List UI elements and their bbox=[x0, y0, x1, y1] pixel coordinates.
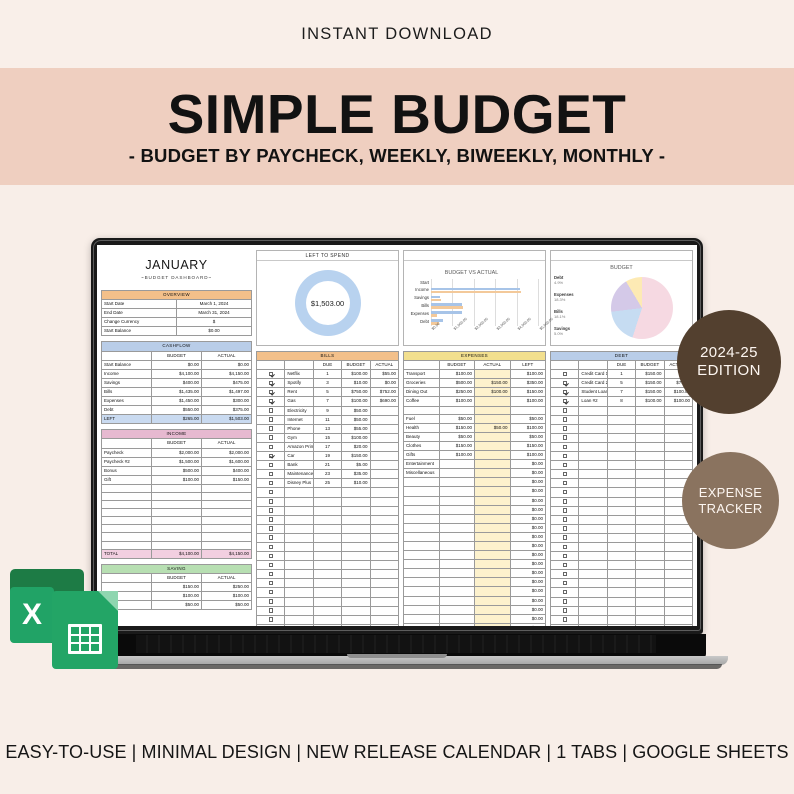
checkbox-icon[interactable] bbox=[563, 472, 567, 476]
checkbox-icon[interactable] bbox=[269, 554, 273, 558]
checkbox-icon[interactable] bbox=[269, 572, 273, 576]
row-checkbox[interactable] bbox=[551, 579, 579, 588]
row-checkbox[interactable] bbox=[257, 570, 285, 579]
donut-ring: $1,503.00 bbox=[295, 270, 361, 336]
checkbox-icon[interactable] bbox=[269, 599, 273, 603]
checkbox-icon[interactable] bbox=[563, 490, 567, 494]
cell-due bbox=[313, 533, 341, 542]
checkbox-icon[interactable] bbox=[563, 435, 567, 439]
cell-budget: $150.00 bbox=[636, 379, 664, 388]
cell-actual: $2,000.00 bbox=[202, 448, 252, 457]
table-row bbox=[551, 570, 693, 579]
cell-budget: $100.00 bbox=[439, 370, 475, 379]
cell-label bbox=[579, 506, 607, 515]
cell-label: LEFT bbox=[102, 415, 152, 424]
cell-budget bbox=[342, 615, 370, 624]
checkbox-icon[interactable] bbox=[269, 581, 273, 585]
bar-chart-title: BUDGET VS ACTUAL bbox=[404, 270, 539, 276]
bills-header-row: DUE BUDGET ACTUAL bbox=[257, 361, 399, 370]
row-checkbox[interactable] bbox=[551, 588, 579, 597]
row-checkbox[interactable] bbox=[551, 461, 579, 470]
cell-label bbox=[102, 509, 152, 517]
table-row bbox=[551, 506, 693, 515]
cell-budget bbox=[152, 533, 202, 541]
checkbox-icon[interactable] bbox=[269, 563, 273, 567]
pie-chart-title: BUDGET bbox=[551, 261, 692, 271]
cell-label bbox=[285, 624, 313, 626]
laptop-trackpad-notch bbox=[347, 654, 447, 658]
cell-actual bbox=[475, 587, 511, 596]
cell-label bbox=[285, 606, 313, 615]
cell-actual bbox=[475, 596, 511, 605]
checkbox-icon[interactable] bbox=[563, 372, 567, 376]
row-checkbox[interactable] bbox=[551, 488, 579, 497]
row-checkbox[interactable] bbox=[257, 415, 285, 424]
checkbox-icon[interactable] bbox=[269, 408, 273, 412]
checkbox-icon[interactable] bbox=[563, 381, 567, 385]
row-checkbox[interactable] bbox=[551, 397, 579, 406]
checkbox-icon[interactable] bbox=[563, 408, 567, 412]
row-checkbox[interactable] bbox=[551, 388, 579, 397]
cell-left: $100.00 bbox=[510, 397, 546, 406]
row-checkbox[interactable] bbox=[551, 624, 579, 626]
row-checkbox[interactable] bbox=[257, 597, 285, 606]
checkbox-icon[interactable] bbox=[269, 590, 273, 594]
cell-budget: $250.00 bbox=[439, 388, 475, 397]
bills-col-actual: ACTUAL bbox=[370, 361, 398, 370]
row-checkbox[interactable] bbox=[257, 424, 285, 433]
row-checkbox[interactable] bbox=[257, 442, 285, 451]
checkbox-icon[interactable] bbox=[269, 617, 273, 621]
cell-budget bbox=[439, 569, 475, 578]
saving-col-budget: BUDGET bbox=[152, 573, 202, 582]
cell-left: $50.00 bbox=[510, 414, 546, 423]
cell-budget: $100.00 bbox=[152, 475, 202, 484]
table-row: Rent5$750.00$752.00 bbox=[257, 388, 399, 397]
instant-download-text: INSTANT DOWNLOAD bbox=[301, 25, 493, 44]
cell-value: March 31, 2024 bbox=[177, 309, 252, 318]
row-checkbox[interactable] bbox=[551, 442, 579, 451]
row-checkbox[interactable] bbox=[257, 624, 285, 626]
cell-budget bbox=[636, 515, 664, 524]
row-checkbox[interactable] bbox=[551, 524, 579, 533]
checkbox-icon[interactable] bbox=[563, 535, 567, 539]
cell-budget bbox=[636, 615, 664, 624]
row-checkbox[interactable] bbox=[551, 533, 579, 542]
checkbox-icon[interactable] bbox=[563, 445, 567, 449]
table-row bbox=[551, 406, 693, 415]
cell-left: $0.00 bbox=[510, 523, 546, 532]
checkbox-icon[interactable] bbox=[563, 572, 567, 576]
saving-col-actual: ACTUAL bbox=[202, 573, 252, 582]
checkbox-icon[interactable] bbox=[269, 381, 273, 385]
checkbox-icon[interactable] bbox=[269, 545, 273, 549]
row-checkbox[interactable] bbox=[257, 588, 285, 597]
left-to-spend-panel: LEFT TO SPEND $1,503.00 bbox=[256, 250, 399, 346]
cell-due bbox=[607, 461, 635, 470]
checkbox-icon[interactable] bbox=[563, 390, 567, 394]
cell-budget: $265.00 bbox=[152, 415, 202, 424]
checkbox-icon[interactable] bbox=[269, 526, 273, 530]
table-row: Amazon Prime17$20.00 bbox=[257, 442, 399, 451]
cell-label bbox=[404, 514, 440, 523]
row-checkbox[interactable] bbox=[257, 488, 285, 497]
budget-vs-actual-panel: BUDGET VS ACTUAL StartIncomeSavingsBills… bbox=[403, 250, 546, 346]
table-row: Netflix1$100.00$55.00 bbox=[257, 370, 399, 379]
cell-budget bbox=[636, 424, 664, 433]
bar-chart-row: Savings bbox=[431, 295, 539, 302]
bills-rows: Netflix1$100.00$55.00Spotify3$10.00$0.00… bbox=[257, 370, 399, 626]
tracker-badge-line2: TRACKER bbox=[698, 501, 762, 517]
row-checkbox[interactable] bbox=[551, 506, 579, 515]
table-row bbox=[257, 524, 399, 533]
row-checkbox[interactable] bbox=[257, 524, 285, 533]
debt-title: DEBT bbox=[551, 352, 693, 361]
cell-budget bbox=[152, 525, 202, 533]
pie-legend-percent: 18.3% bbox=[554, 297, 606, 302]
table-row: $0.00 bbox=[404, 569, 546, 578]
checkbox-icon[interactable] bbox=[269, 608, 273, 612]
table-row: Internet11$50.00 bbox=[257, 415, 399, 424]
checkbox-icon[interactable] bbox=[563, 563, 567, 567]
cell-actual: $250.00 bbox=[202, 582, 252, 591]
cell-due: 11 bbox=[313, 415, 341, 424]
google-sheets-icon-fold bbox=[98, 591, 118, 611]
cell-budget: $100.00 bbox=[342, 370, 370, 379]
cell-actual: $0.00 bbox=[202, 360, 252, 369]
row-checkbox[interactable] bbox=[257, 470, 285, 479]
row-checkbox[interactable] bbox=[551, 552, 579, 561]
checkbox-icon[interactable] bbox=[563, 417, 567, 421]
row-checkbox[interactable] bbox=[257, 552, 285, 561]
cell-label: Groceries bbox=[404, 379, 440, 388]
cell-budget bbox=[342, 524, 370, 533]
row-checkbox[interactable] bbox=[257, 515, 285, 524]
cell-actual bbox=[475, 541, 511, 550]
pie-legend-item: Debt4.9% bbox=[554, 275, 606, 285]
cell-left: $100.00 bbox=[510, 370, 546, 379]
cell-left: $150.00 bbox=[510, 441, 546, 450]
row-checkbox[interactable] bbox=[257, 461, 285, 470]
cell-label: Expenses bbox=[102, 397, 152, 406]
row-checkbox[interactable] bbox=[551, 561, 579, 570]
row-checkbox[interactable] bbox=[257, 615, 285, 624]
checkbox-icon[interactable] bbox=[269, 490, 273, 494]
cell-budget bbox=[439, 460, 475, 469]
cell-label: Change Currency bbox=[102, 318, 177, 327]
cell-label: Fuel bbox=[404, 414, 440, 423]
cell-actual bbox=[370, 542, 398, 551]
table-row bbox=[257, 515, 399, 524]
cell-label: Miscellaneous bbox=[404, 469, 440, 478]
cell-label bbox=[102, 484, 152, 492]
cell-actual bbox=[475, 569, 511, 578]
checkbox-icon[interactable] bbox=[563, 481, 567, 485]
table-row: $0.00 bbox=[404, 623, 546, 626]
cell-label: End Date bbox=[102, 309, 177, 318]
cell-label bbox=[579, 624, 607, 626]
cell-budget bbox=[439, 469, 475, 478]
cell-budget bbox=[636, 597, 664, 606]
table-row bbox=[551, 606, 693, 615]
checkbox-icon[interactable] bbox=[269, 454, 273, 458]
checkbox-icon[interactable] bbox=[269, 435, 273, 439]
cell-label bbox=[102, 517, 152, 525]
row-checkbox[interactable] bbox=[257, 479, 285, 488]
cell-due bbox=[607, 488, 635, 497]
cell-budget bbox=[152, 501, 202, 509]
cell-due: 8 bbox=[607, 397, 635, 406]
table-row: $0.00 bbox=[404, 541, 546, 550]
checkbox-icon[interactable] bbox=[563, 508, 567, 512]
cell-left: $0.00 bbox=[510, 560, 546, 569]
row-checkbox[interactable] bbox=[257, 579, 285, 588]
tracker-badge: EXPENSE TRACKER bbox=[682, 452, 779, 549]
cell-budget: $20.00 bbox=[342, 442, 370, 451]
cell-actual bbox=[370, 588, 398, 597]
row-checkbox[interactable] bbox=[551, 615, 579, 624]
cell-budget: $100.00 bbox=[439, 397, 475, 406]
row-checkbox[interactable] bbox=[257, 406, 285, 415]
checkbox-icon[interactable] bbox=[269, 390, 273, 394]
month-header: JANUARY ~BUDGET DASHBOARD~ bbox=[101, 250, 252, 285]
table-row bbox=[551, 533, 693, 542]
table-row: $0.00 bbox=[404, 514, 546, 523]
row-checkbox[interactable] bbox=[257, 452, 285, 461]
cell-budget: $150.00 bbox=[636, 370, 664, 379]
footer-text: EASY-TO-USE | MINIMAL DESIGN | NEW RELEA… bbox=[5, 742, 788, 763]
cashflow-table: CASHFLOW BUDGET ACTUAL Start Balance$0.0… bbox=[101, 341, 252, 424]
checkbox-icon[interactable] bbox=[269, 417, 273, 421]
row-checkbox[interactable] bbox=[257, 606, 285, 615]
cell-budget bbox=[342, 533, 370, 542]
table-row: $0.00 bbox=[404, 478, 546, 487]
checkbox-icon[interactable] bbox=[563, 617, 567, 621]
cell-actual: $1,503.00 bbox=[202, 415, 252, 424]
row-checkbox[interactable] bbox=[257, 542, 285, 551]
cell-label bbox=[579, 606, 607, 615]
cell-actual bbox=[370, 452, 398, 461]
cell-budget bbox=[636, 561, 664, 570]
row-checkbox[interactable] bbox=[551, 415, 579, 424]
cell-label bbox=[285, 552, 313, 561]
left-to-spend-value: $1,503.00 bbox=[311, 299, 344, 308]
cell-actual bbox=[475, 514, 511, 523]
pie-chart-legend: Debt4.9%Expenses18.3%Bills18.1%Savings5.… bbox=[554, 275, 606, 343]
row-checkbox[interactable] bbox=[551, 452, 579, 461]
cell-label bbox=[579, 406, 607, 415]
cell-actual bbox=[202, 492, 252, 500]
row-checkbox[interactable] bbox=[551, 470, 579, 479]
checkbox-icon[interactable] bbox=[563, 426, 567, 430]
income-header-row: BUDGET ACTUAL bbox=[102, 439, 252, 448]
checkbox-icon[interactable] bbox=[563, 545, 567, 549]
table-row bbox=[257, 506, 399, 515]
row-checkbox[interactable] bbox=[551, 597, 579, 606]
cell-actual bbox=[664, 561, 692, 570]
cell-actual: $300.00 bbox=[202, 397, 252, 406]
cell-label bbox=[285, 488, 313, 497]
cell-budget bbox=[636, 542, 664, 551]
cell-label: Phone bbox=[285, 424, 313, 433]
checkbox-icon[interactable] bbox=[563, 399, 567, 403]
google-sheets-icon-grid bbox=[68, 624, 102, 654]
checkbox-icon[interactable] bbox=[269, 508, 273, 512]
debt-col-name bbox=[579, 361, 607, 370]
row-checkbox[interactable] bbox=[257, 533, 285, 542]
checkbox-icon[interactable] bbox=[269, 481, 273, 485]
table-row: Bills$1,435.00$1,497.00 bbox=[102, 387, 252, 396]
cell-budget bbox=[439, 406, 475, 414]
expenses-rows: Transport$100.00$100.00Groceries$500.00$… bbox=[404, 370, 546, 626]
cashflow-rows: Start Balance$0.00$0.00Income$4,100.00$4… bbox=[102, 360, 252, 424]
cell-label bbox=[579, 570, 607, 579]
cell-budget: $1,500.00 bbox=[152, 457, 202, 466]
checkbox-icon[interactable] bbox=[563, 526, 567, 530]
cell-budget bbox=[439, 587, 475, 596]
row-checkbox[interactable] bbox=[551, 606, 579, 615]
cell-due: 25 bbox=[313, 479, 341, 488]
cell-actual bbox=[370, 424, 398, 433]
cell-left: $0.00 bbox=[510, 551, 546, 560]
cell-label bbox=[404, 587, 440, 596]
cell-actual: $55.00 bbox=[370, 370, 398, 379]
cashflow-col-budget: BUDGET bbox=[152, 351, 202, 360]
cell-due bbox=[607, 561, 635, 570]
row-checkbox[interactable] bbox=[257, 497, 285, 506]
checkbox-icon[interactable] bbox=[269, 517, 273, 521]
cell-actual: $1,600.00 bbox=[202, 457, 252, 466]
cell-actual bbox=[202, 517, 252, 525]
cell-label bbox=[404, 541, 440, 550]
cell-budget: $400.00 bbox=[152, 378, 202, 387]
row-checkbox[interactable] bbox=[257, 370, 285, 379]
cell-left: $0.00 bbox=[510, 460, 546, 469]
checkbox-icon[interactable] bbox=[563, 454, 567, 458]
income-total-label: TOTAL bbox=[102, 549, 152, 558]
cell-actual: $150.00 bbox=[202, 475, 252, 484]
table-row: Expenses$1,450.00$300.00 bbox=[102, 397, 252, 406]
cell-actual bbox=[664, 615, 692, 624]
cell-label: Coffee bbox=[404, 397, 440, 406]
page-title: SIMPLE BUDGET bbox=[168, 87, 627, 142]
cell-actual bbox=[475, 560, 511, 569]
checkbox-icon[interactable] bbox=[563, 499, 567, 503]
row-checkbox[interactable] bbox=[257, 388, 285, 397]
table-row bbox=[257, 615, 399, 624]
cell-actual bbox=[475, 432, 511, 441]
cell-actual bbox=[664, 415, 692, 424]
edition-badge-line1: 2024-25 bbox=[700, 344, 758, 362]
cell-due bbox=[313, 497, 341, 506]
cell-label bbox=[579, 524, 607, 533]
income-rows: Paycheck$2,000.00$2,000.00Paycheck #2$1,… bbox=[102, 448, 252, 549]
cell-label: Student Loan bbox=[579, 388, 607, 397]
cell-label bbox=[404, 614, 440, 623]
row-checkbox[interactable] bbox=[551, 424, 579, 433]
row-checkbox[interactable] bbox=[551, 515, 579, 524]
checkbox-icon[interactable] bbox=[269, 472, 273, 476]
table-row: Coffee$100.00$100.00 bbox=[404, 397, 546, 406]
cell-actual bbox=[475, 614, 511, 623]
cell-label: Gift bbox=[102, 475, 152, 484]
row-checkbox[interactable] bbox=[551, 542, 579, 551]
row-checkbox[interactable] bbox=[257, 397, 285, 406]
cell-actual bbox=[475, 370, 511, 379]
cell-label bbox=[579, 433, 607, 442]
checkbox-icon[interactable] bbox=[269, 463, 273, 467]
row-checkbox[interactable] bbox=[257, 379, 285, 388]
cell-actual bbox=[664, 552, 692, 561]
row-checkbox[interactable] bbox=[551, 370, 579, 379]
checkbox-icon[interactable] bbox=[563, 463, 567, 467]
row-checkbox[interactable] bbox=[551, 497, 579, 506]
checkbox-icon[interactable] bbox=[563, 581, 567, 585]
cell-budget bbox=[342, 488, 370, 497]
table-row: $0.00 bbox=[404, 587, 546, 596]
checkbox-icon[interactable] bbox=[563, 608, 567, 612]
cell-budget bbox=[439, 614, 475, 623]
cell-actual bbox=[370, 579, 398, 588]
cell-actual bbox=[475, 478, 511, 487]
row-checkbox[interactable] bbox=[257, 506, 285, 515]
cell-budget bbox=[636, 415, 664, 424]
cell-budget bbox=[636, 488, 664, 497]
checkbox-icon[interactable] bbox=[269, 426, 273, 430]
cell-label bbox=[404, 487, 440, 496]
cell-budget bbox=[439, 605, 475, 614]
cell-budget bbox=[342, 570, 370, 579]
cell-actual bbox=[475, 605, 511, 614]
cell-due bbox=[607, 442, 635, 451]
cell-due: 15 bbox=[313, 433, 341, 442]
cell-actual bbox=[202, 541, 252, 549]
cell-actual: $0.00 bbox=[370, 379, 398, 388]
bar-chart-category-label: Start bbox=[420, 280, 429, 287]
title-band: SIMPLE BUDGET - BUDGET BY PAYCHECK, WEEK… bbox=[0, 68, 794, 185]
row-checkbox[interactable] bbox=[551, 406, 579, 415]
checkbox-icon[interactable] bbox=[563, 517, 567, 521]
bar-chart-category-label: Income bbox=[415, 287, 429, 294]
table-row bbox=[102, 525, 252, 533]
cell-label bbox=[579, 461, 607, 470]
checkbox-icon[interactable] bbox=[269, 372, 273, 376]
checkbox-icon[interactable] bbox=[269, 399, 273, 403]
row-checkbox[interactable] bbox=[257, 433, 285, 442]
cell-label: Gym bbox=[285, 433, 313, 442]
checkbox-icon[interactable] bbox=[269, 535, 273, 539]
checkbox-icon[interactable] bbox=[563, 599, 567, 603]
checkbox-icon[interactable] bbox=[563, 554, 567, 558]
cell-label bbox=[579, 479, 607, 488]
table-row: $0.00 bbox=[404, 551, 546, 560]
row-checkbox[interactable] bbox=[551, 479, 579, 488]
row-checkbox[interactable] bbox=[257, 561, 285, 570]
cell-due bbox=[607, 606, 635, 615]
checkbox-icon[interactable] bbox=[563, 590, 567, 594]
cell-due: 5 bbox=[607, 379, 635, 388]
row-checkbox[interactable] bbox=[551, 433, 579, 442]
expenses-table: EXPENSES BUDGET ACTUAL LEFT Transport$10… bbox=[403, 351, 546, 626]
row-checkbox[interactable] bbox=[551, 570, 579, 579]
cell-due: 3 bbox=[313, 379, 341, 388]
cell-due bbox=[607, 624, 635, 626]
checkbox-icon[interactable] bbox=[269, 445, 273, 449]
cell-due: 9 bbox=[313, 406, 341, 415]
row-checkbox[interactable] bbox=[551, 379, 579, 388]
checkbox-icon[interactable] bbox=[269, 499, 273, 503]
cell-budget: $35.00 bbox=[342, 470, 370, 479]
